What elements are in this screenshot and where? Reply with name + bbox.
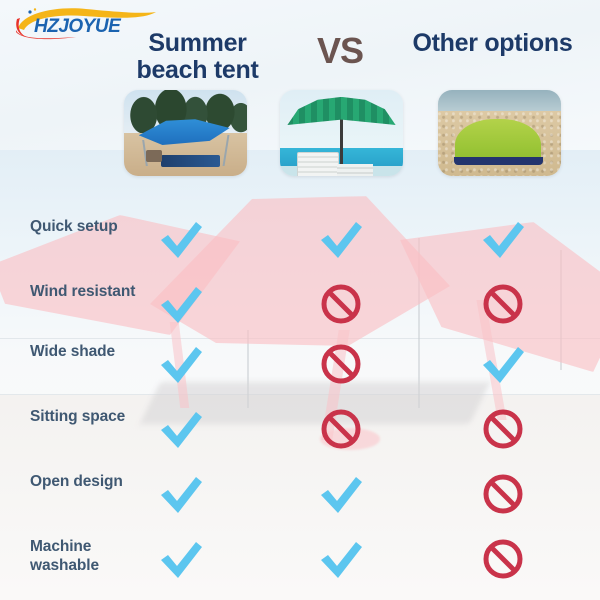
check-icon bbox=[158, 406, 204, 452]
check-icon bbox=[158, 216, 204, 262]
svg-text:HZJOYUE: HZJOYUE bbox=[34, 16, 122, 37]
check-icon bbox=[318, 216, 364, 262]
prohibition-icon bbox=[318, 406, 364, 452]
feature-label: Quick setup bbox=[30, 218, 145, 237]
feature-label: Wide shade bbox=[30, 343, 145, 362]
column-title-other: Other options bbox=[400, 30, 585, 57]
check-icon bbox=[480, 216, 526, 262]
feature-label: Machine washable bbox=[30, 538, 145, 576]
prohibition-icon bbox=[480, 281, 526, 327]
prohibition-icon bbox=[480, 536, 526, 582]
thumb2-beach-chair-second bbox=[337, 164, 374, 176]
check-icon bbox=[318, 536, 364, 582]
check-icon bbox=[318, 471, 364, 517]
feature-label: Wind resistant bbox=[30, 283, 145, 302]
thumb3-tent-base bbox=[454, 157, 543, 165]
product-image-blue-sunshade[interactable] bbox=[124, 90, 247, 176]
feature-label: Open design bbox=[30, 473, 145, 492]
prohibition-icon bbox=[318, 341, 364, 387]
thumb3-sea bbox=[438, 90, 561, 112]
prohibition-icon bbox=[480, 471, 526, 517]
feature-label: Sitting space bbox=[30, 408, 145, 427]
check-icon bbox=[158, 281, 204, 327]
thumb1-beach-mat bbox=[161, 155, 220, 167]
check-icon bbox=[158, 471, 204, 517]
check-icon bbox=[158, 341, 204, 387]
check-icon bbox=[158, 536, 204, 582]
column-title-product: Summer beach tent bbox=[110, 30, 285, 83]
thumb1-carry-bag bbox=[146, 150, 162, 162]
thumb2-beach-chair bbox=[297, 152, 338, 176]
prohibition-icon bbox=[480, 406, 526, 452]
check-icon bbox=[480, 341, 526, 387]
product-image-green-pop-up-tent[interactable] bbox=[438, 90, 561, 176]
product-image-green-umbrella[interactable] bbox=[280, 90, 403, 176]
prohibition-icon bbox=[318, 281, 364, 327]
column-title-vs: VS bbox=[290, 32, 390, 70]
thumb3-green-dome-tent bbox=[455, 119, 541, 162]
infographic-root: HZJOYUE Summer beach tent VS Other optio… bbox=[0, 0, 600, 600]
